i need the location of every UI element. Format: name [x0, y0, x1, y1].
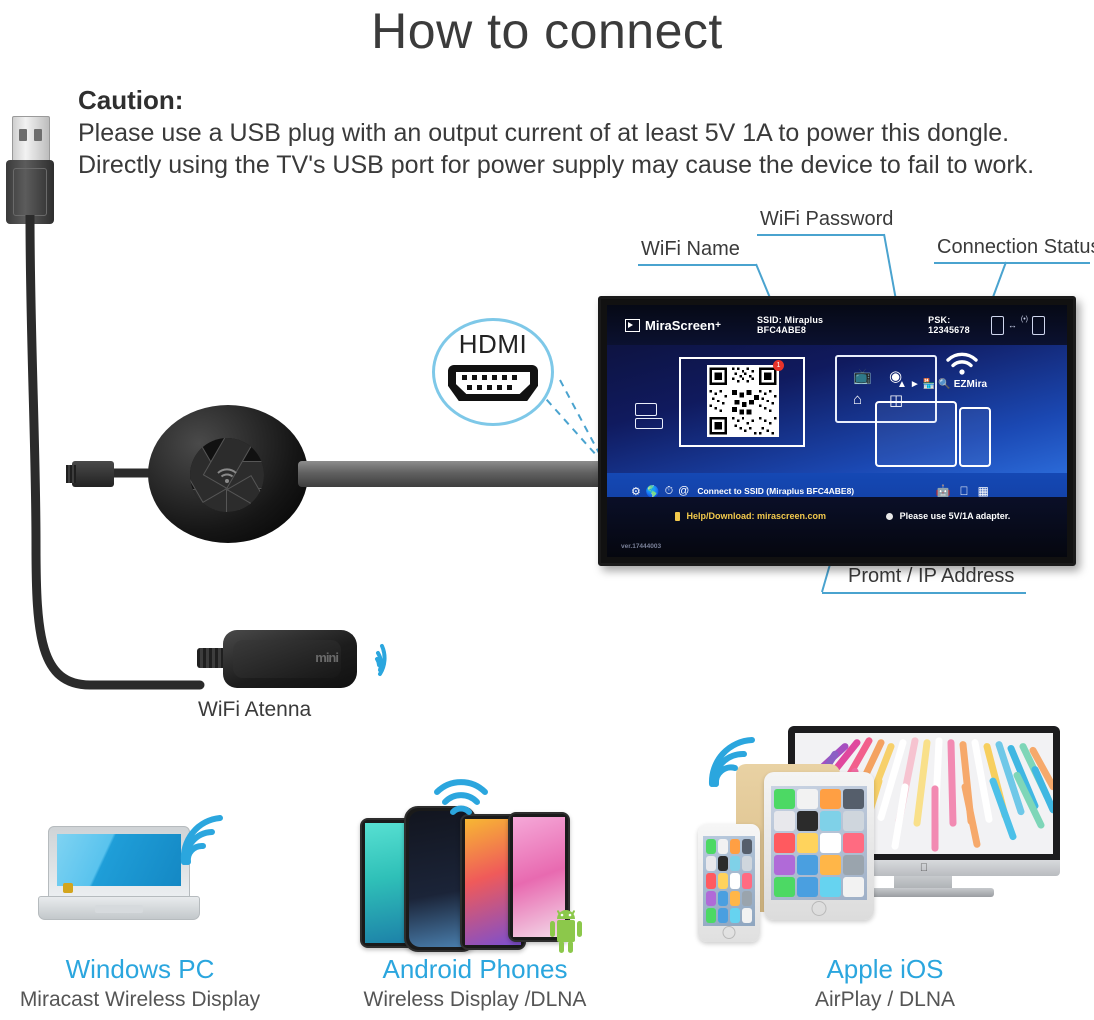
tv-display: MiraScreen + SSID: Miraplus BFC4ABE8 PSK…	[598, 296, 1076, 566]
ipad-white	[764, 772, 874, 920]
signal-waves-icon: (•)	[1021, 316, 1028, 323]
tv-psk-value: PSK: 12345678	[928, 315, 991, 335]
tv-ssid-value: SSID: Miraplus BFC4ABE8	[757, 315, 868, 335]
dongle-illustration-icon	[635, 403, 669, 429]
ezmira-label: EZMira	[954, 379, 987, 390]
callout-wifi-password-rule	[757, 234, 885, 236]
airplay-home-icon: ⌂	[853, 391, 862, 408]
laptop-icon	[38, 826, 198, 921]
wifi-waves-icon	[374, 636, 418, 680]
hdmi-port-icon	[448, 365, 538, 401]
brand-plus: +	[715, 320, 721, 331]
link-arrow-icon: ↔	[1008, 320, 1017, 330]
laptop-trackpad	[95, 905, 143, 913]
qr-notification-badge: 1	[773, 360, 784, 371]
book-icon	[675, 512, 680, 521]
connect-to-ssid-text: Connect to SSID (Miraplus BFC4ABE8)	[697, 486, 854, 496]
globe-icon: 🌎	[646, 485, 660, 498]
apple-logo-icon: 	[920, 862, 928, 874]
iphone-screen	[703, 836, 755, 926]
device-subtitle-windows-pc: Miracast Wireless Display	[0, 988, 280, 1012]
micro-usb-connector	[72, 461, 114, 487]
ipad-home-button	[812, 901, 827, 916]
tv-action-icons: ⚙ 🌎 ⏱ @	[631, 485, 689, 498]
adapter-notice-text: Please use 5V/1A adapter.	[886, 511, 1010, 521]
cable-strain-relief	[66, 465, 76, 483]
device-title-apple-ios: Apple iOS	[740, 954, 1030, 985]
apple-icon: 	[960, 484, 969, 498]
laptop-indicator	[63, 883, 73, 893]
qr-code-icon: 1	[707, 365, 779, 437]
tablet-illustration	[875, 401, 957, 467]
hdmi-label: HDMI	[435, 329, 551, 360]
wifi-antenna: mini	[195, 630, 360, 692]
dongle-mini-icon	[991, 316, 1004, 335]
phone-mini-icon	[1032, 316, 1045, 335]
google-play-icon: ►	[910, 379, 920, 390]
cast-screen-icon	[625, 319, 640, 332]
brand-name: MiraScreen	[645, 318, 715, 333]
hdmi-callout-bubble: HDMI	[432, 318, 554, 426]
aperture-logo-icon	[190, 438, 264, 512]
connection-status-icon: ↔ (•)	[991, 316, 1045, 335]
caution-block: Caution: Please use a USB plug with an o…	[78, 86, 1058, 181]
callout-wifi-name-rule	[638, 264, 756, 266]
firmware-version: ver.17444003	[621, 543, 661, 550]
callout-wifi-password: WiFi Password	[760, 208, 893, 231]
tv-screen: MiraScreen + SSID: Miraplus BFC4ABE8 PSK…	[607, 305, 1067, 557]
at-icon: @	[678, 485, 689, 497]
iphone-icon	[698, 824, 760, 942]
mirascreen-dongle	[148, 405, 318, 545]
wifi-antenna-label: WiFi Atenna	[198, 698, 311, 722]
mirascreen-brand: MiraScreen +	[625, 318, 721, 333]
help-download-text: Help/Download: mirascreen.com	[675, 511, 826, 521]
callout-connection-status: Connection Status	[937, 236, 1094, 259]
laptop-base	[38, 896, 200, 920]
clock-icon: ⏱	[665, 485, 674, 498]
device-title-windows-pc: Windows PC	[0, 954, 280, 985]
device-title-android-phones: Android Phones	[330, 954, 620, 985]
tv-top-bar: MiraScreen + SSID: Miraplus BFC4ABE8 PSK…	[607, 305, 1067, 345]
imac-foot	[854, 888, 994, 897]
windows-icon: ▦	[978, 484, 989, 498]
page-title: How to connect	[0, 2, 1094, 60]
callout-wifi-name: WiFi Name	[641, 238, 740, 261]
wifi-icon	[216, 466, 238, 484]
android-robot-icon	[545, 908, 587, 954]
iphone-home-button	[723, 926, 736, 939]
info-dot-icon	[886, 513, 893, 520]
usb-pin	[34, 129, 42, 141]
device-subtitle-android-phones: Wireless Display /DLNA	[330, 988, 620, 1012]
tv-footer-bar: Help/Download: mirascreen.com Please use…	[607, 497, 1067, 557]
ipad-screen	[771, 786, 867, 900]
wifi-waves-icon	[434, 778, 490, 824]
wifi-waves-icon	[176, 812, 232, 868]
antenna-logo: mini	[315, 650, 338, 665]
laptop-lid	[48, 826, 190, 900]
hdmi-port-inner	[456, 372, 530, 394]
dongle-puck	[148, 405, 308, 543]
laptop-screen	[57, 834, 181, 886]
gear-icon: ⚙	[631, 485, 641, 498]
cast-icon: 📺	[853, 367, 872, 385]
airplay-icon: ▲	[897, 379, 907, 390]
android-icon: 🤖	[936, 484, 951, 498]
usb-pin	[19, 129, 27, 141]
usb-connector-metal	[12, 116, 50, 166]
callout-prompt-ip: Promt / IP Address	[848, 565, 1014, 588]
ezmira-app-row: ▲ ► 🏪 🔍 EZMira	[897, 379, 987, 390]
phone-illustration	[959, 407, 991, 467]
usb-plug-icon	[4, 116, 56, 224]
search-icon: 🔍	[938, 379, 950, 390]
caution-heading: Caution:	[78, 86, 1058, 115]
wifi-icon	[945, 351, 979, 375]
tv-os-icons: 🤖  ▦	[936, 484, 989, 498]
caution-body: Please use a USB plug with an output cur…	[78, 117, 1058, 181]
device-subtitle-apple-ios: AirPlay / DLNA	[740, 988, 1030, 1012]
tv-middle-area: 1 📺 ◉ ⌂ ◫ ▲ ► 🏪 🔍 EZMira	[607, 345, 1067, 473]
wifi-waves-icon	[708, 736, 760, 788]
app-store-icon: 🏪	[923, 379, 935, 390]
qr-panel: 1	[679, 357, 805, 447]
